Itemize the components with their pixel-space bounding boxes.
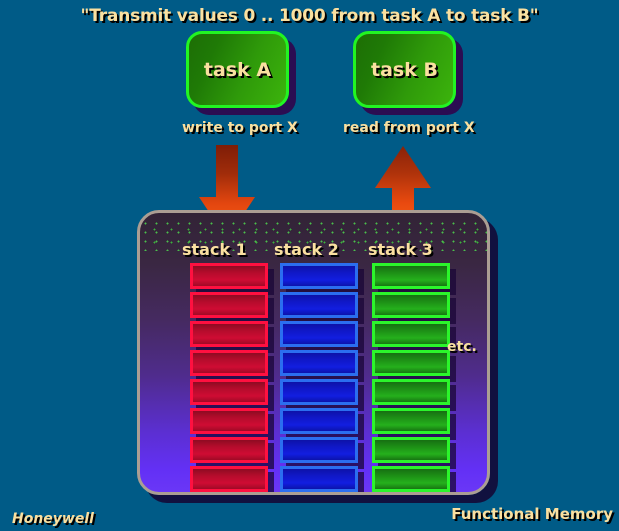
stack-2-block	[280, 321, 358, 347]
stack-2-block	[280, 263, 358, 289]
task-b-label: task B	[371, 59, 438, 81]
read-port-label: read from port X	[343, 120, 475, 136]
stack-2-label: stack 2	[274, 240, 339, 259]
stack-2-block	[280, 466, 358, 492]
stack-3-block	[372, 437, 450, 463]
stack-3-block	[372, 466, 450, 492]
task-a-label: task A	[204, 59, 271, 81]
stack-2[interactable]	[280, 263, 358, 495]
stack-1-label: stack 1	[182, 240, 247, 259]
task-a-box[interactable]: task A	[186, 31, 289, 108]
stack-1-block	[190, 379, 268, 405]
etc-label: etc.	[447, 339, 477, 355]
write-port-label: write to port X	[182, 120, 298, 136]
stack-3-block	[372, 350, 450, 376]
stack-3-block	[372, 408, 450, 434]
stack-1-block	[190, 437, 268, 463]
stack-3-label: stack 3	[368, 240, 433, 259]
stack-2-block	[280, 350, 358, 376]
stack-3-block	[372, 263, 450, 289]
footer-functional-memory: Functional Memory	[451, 505, 613, 523]
stack-1-block	[190, 321, 268, 347]
stack-1-block	[190, 263, 268, 289]
functional-memory-panel: stack 1 stack 2 stack 3 etc.	[137, 210, 490, 495]
stack-3-block	[372, 292, 450, 318]
stack-2-block	[280, 379, 358, 405]
task-b-box[interactable]: task B	[353, 31, 456, 108]
footer-honeywell: Honeywell	[12, 511, 94, 527]
stack-2-block	[280, 408, 358, 434]
stack-1-block	[190, 292, 268, 318]
page-title: "Transmit values 0 .. 1000 from task A t…	[0, 6, 619, 26]
stack-1-block	[190, 408, 268, 434]
stack-1[interactable]	[190, 263, 268, 495]
stack-1-block	[190, 466, 268, 492]
stack-1-block	[190, 350, 268, 376]
stack-2-block	[280, 437, 358, 463]
stack-3[interactable]	[372, 263, 450, 495]
stack-3-block	[372, 379, 450, 405]
stack-2-block	[280, 292, 358, 318]
stack-3-block	[372, 321, 450, 347]
